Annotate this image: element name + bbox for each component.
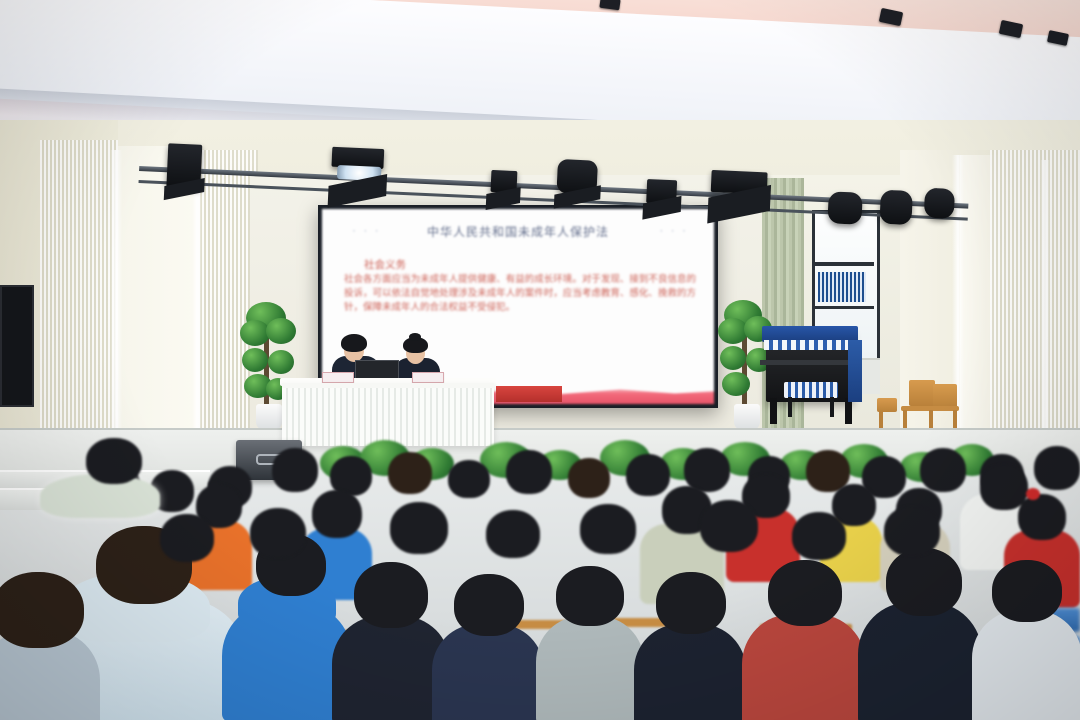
slide-subheading: 社会义务 — [364, 257, 406, 272]
wall-mounted-display[interactable] — [0, 285, 34, 407]
spare-wooden-chairs[interactable] — [895, 380, 967, 435]
slide-title: 中华人民共和国未成年人保护法 — [322, 223, 714, 240]
piano-leg — [770, 398, 777, 424]
piano-bench — [784, 382, 838, 398]
nameplate-right — [412, 372, 444, 383]
slide-body-text: 社会各方面应当为未成年人提供健康、有益的成长环境。对于发现、接到不良信息的投诉，… — [344, 273, 696, 315]
piano-cloth-drape — [848, 340, 862, 402]
nameplate-left — [322, 372, 354, 383]
assembly-hall-photo: · · · 中华人民共和国未成年人保护法 · · · 社会义务 社会各方面应当为… — [0, 0, 1080, 720]
piano-lace-trim — [764, 340, 856, 350]
window-blue-panel — [818, 272, 866, 302]
window-mullion-h2 — [812, 306, 874, 309]
audience-fill-heads — [0, 500, 1080, 620]
piano-lid — [760, 360, 860, 365]
stage-light-icon — [879, 190, 913, 225]
window-mullion-h — [812, 262, 874, 266]
red-floor-runner — [496, 386, 562, 402]
stage-light-icon — [827, 191, 862, 225]
bench-leg — [830, 397, 834, 417]
bench-leg — [788, 397, 792, 417]
stage-light-icon — [924, 188, 955, 219]
